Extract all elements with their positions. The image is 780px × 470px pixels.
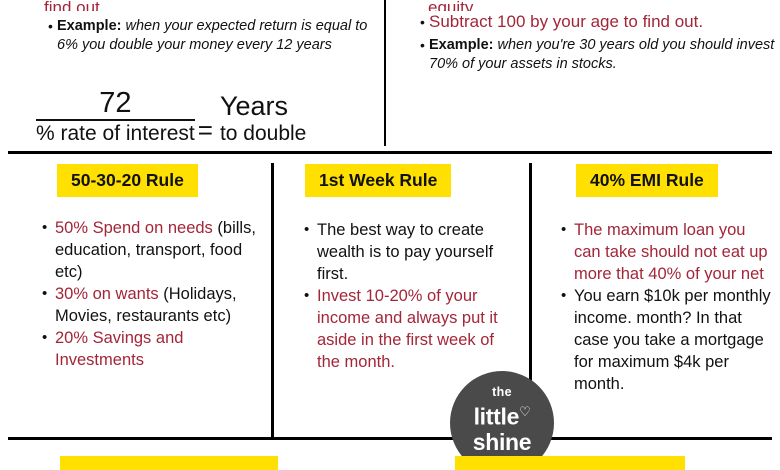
example-label: Example: [429, 37, 493, 53]
fraction: 72 % rate of interest [36, 88, 195, 147]
formula-result-bottom: to double [220, 121, 306, 147]
heart-icon: ♡ [519, 404, 530, 419]
list-item: • 20% Savings and Investments [42, 327, 264, 371]
bullet-dot-icon: • [561, 285, 574, 395]
fraction-denominator: % rate of interest [36, 121, 195, 147]
logo-line-shine: shine [450, 430, 554, 455]
hundred-minus-age-example-bullet: • Example: when you're 30 years old you … [386, 33, 780, 74]
list-item-red-text: 50% Spend on needs [55, 219, 213, 237]
bottom-highlight-bar-left [60, 456, 278, 470]
rule-of-72-formula: 72 % rate of interest = Years to double [36, 88, 306, 147]
logo-line-little: little♡ [450, 399, 554, 430]
bottom-highlight-bar-right [455, 456, 685, 470]
list-item-black-text: You earn $10k per monthly income. month?… [574, 285, 773, 395]
list-item-red-text: 30% on wants [55, 285, 163, 303]
equals-sign: = [195, 117, 220, 147]
infographic-page: find out. • Example: when your expected … [0, 0, 780, 470]
rule-heading-1st-week: 1st Week Rule [305, 164, 451, 197]
clipped-top-line-left: find out. [0, 0, 385, 11]
rule-of-72-panel: find out. • Example: when your expected … [0, 0, 385, 55]
hundred-minus-age-bullet-1-text: Subtract 100 by your age to find out. [429, 11, 780, 33]
rule-heading-50-30-20: 50-30-20 Rule [57, 164, 198, 197]
rule-of-72-example-bullet: • Example: when your expected return is … [0, 11, 385, 55]
rule-card-40-emi: 40% EMI Rule • The maximum loan you can … [551, 164, 773, 395]
bullet-dot-icon: • [416, 11, 429, 33]
bullet-dot-icon: • [42, 327, 55, 371]
vertical-divider-top [384, 0, 386, 146]
hundred-minus-age-panel: equity. • Subtract 100 by your age to fi… [386, 0, 780, 74]
vertical-divider-left [271, 163, 274, 437]
bullet-dot-icon: • [42, 217, 55, 283]
bullet-dot-icon: • [416, 36, 429, 74]
list-item: • The best way to create wealth is to pa… [304, 219, 520, 285]
formula-result-top: Years [220, 91, 306, 121]
horizontal-divider-upper [8, 151, 772, 154]
rule-heading-40-emi: 40% EMI Rule [576, 164, 718, 197]
list-item-red-text: 20% Savings and Investments [55, 327, 264, 371]
list-item-red-text: Invest 10-20% of your income and always … [317, 285, 520, 373]
rule-card-1st-week: 1st Week Rule • The best way to create w… [296, 164, 520, 373]
list-item: • The maximum loan you can take should n… [561, 219, 773, 285]
logo-word-little: little [474, 404, 519, 430]
rule-list-40-emi: • The maximum loan you can take should n… [561, 219, 773, 395]
logo-line-the: the [450, 371, 554, 399]
list-item-red-text: The maximum loan you can take should not… [574, 219, 773, 285]
bullet-dot-icon: • [42, 283, 55, 327]
bullet-dot-icon: • [304, 285, 317, 373]
list-item-black-text: The best way to create wealth is to pay … [317, 219, 520, 285]
clipped-top-line-right: equity. [386, 0, 780, 11]
bullet-dot-icon: • [304, 219, 317, 285]
bullet-dot-icon: • [561, 219, 574, 285]
horizontal-divider-lower [8, 437, 772, 440]
hundred-minus-age-bullet-1: • Subtract 100 by your age to find out. [386, 11, 780, 33]
fraction-numerator: 72 [36, 88, 195, 121]
rule-list-50-30-20: • 50% Spend on needs (bills, education, … [42, 217, 264, 371]
rule-card-50-30-20: 50-30-20 Rule • 50% Spend on needs (bill… [14, 164, 264, 371]
list-item: • 30% on wants (Holidays, Movies, restau… [42, 283, 264, 327]
formula-result: Years to double [220, 91, 306, 147]
list-item: • Invest 10-20% of your income and alway… [304, 285, 520, 373]
example-label: Example: [57, 18, 121, 34]
rule-list-1st-week: • The best way to create wealth is to pa… [304, 219, 520, 373]
list-item: • 50% Spend on needs (bills, education, … [42, 217, 264, 283]
list-item: • You earn $10k per monthly income. mont… [561, 285, 773, 395]
bullet-dot-icon: • [44, 17, 57, 55]
